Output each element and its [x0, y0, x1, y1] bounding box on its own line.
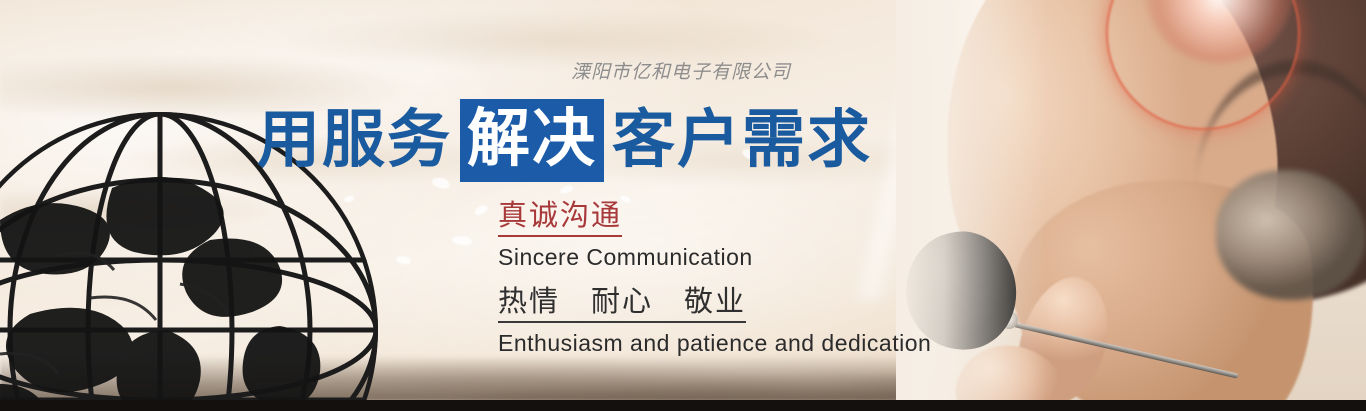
slogan-line1-en: Sincere Communication: [498, 244, 931, 270]
headline-after: 客户需求: [608, 109, 876, 172]
slogan-block: 真诚沟通 Sincere Communication 热情 耐心 敬业 Enth…: [498, 201, 931, 357]
slogan-line2-cn: 热情 耐心 敬业: [498, 287, 746, 323]
company-name: 溧阳市亿和电子有限公司: [571, 57, 791, 84]
slogan-line1-cn: 真诚沟通: [498, 201, 622, 237]
promotional-banner: 溧阳市亿和电子有限公司 用服务 解决 客户需求 真诚沟通 Sincere Com…: [0, 0, 1366, 411]
headline-highlight: 解决: [460, 99, 604, 182]
headset-earpiece: [1216, 170, 1366, 300]
slogan-line2-en: Enthusiasm and patience and dedication: [498, 330, 931, 356]
headline: 用服务 解决 客户需求: [253, 99, 876, 182]
headline-before: 用服务: [253, 109, 456, 172]
headset-operator-photo: [896, 0, 1366, 411]
bottom-bar: [0, 400, 1366, 411]
